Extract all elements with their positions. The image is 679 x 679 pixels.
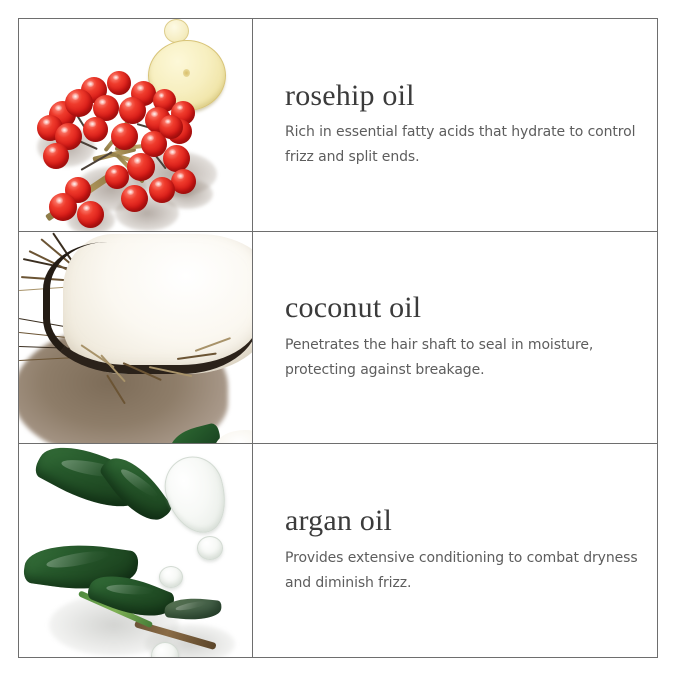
rosehip-berry bbox=[159, 115, 183, 139]
coconut-image-cell bbox=[19, 232, 253, 444]
rosehip-text-cell: rosehip oil Rich in essential fatty acid… bbox=[253, 19, 657, 231]
clear-oil-droplet-large bbox=[157, 450, 234, 541]
clear-oil-droplet-small bbox=[197, 536, 223, 560]
coconut-husk bbox=[43, 242, 253, 374]
rosehip-berry bbox=[43, 143, 69, 169]
ingredient-title-rosehip: rosehip oil bbox=[285, 80, 641, 112]
ingredient-row-coconut: coconut oil Penetrates the hair shaft to… bbox=[19, 232, 657, 445]
ingredient-title-argan: argan oil bbox=[285, 505, 641, 537]
argan-text-cell: argan oil Provides extensive conditionin… bbox=[253, 444, 657, 657]
rosehip-image-cell bbox=[19, 19, 253, 231]
ingredient-description-argan: Provides extensive conditioning to comba… bbox=[285, 546, 640, 596]
ingredient-grid: rosehip oil Rich in essential fatty acid… bbox=[18, 18, 658, 658]
rosehip-berry bbox=[111, 123, 138, 150]
ingredient-title-coconut: coconut oil bbox=[285, 292, 641, 324]
ingredient-description-rosehip: Rich in essential fatty acids that hydra… bbox=[285, 120, 640, 170]
rosehip-berry bbox=[121, 185, 148, 212]
ingredient-benefits-infographic: rosehip oil Rich in essential fatty acid… bbox=[0, 0, 679, 679]
rosehip-berry bbox=[65, 89, 93, 117]
rosehip-berry bbox=[119, 97, 146, 124]
ingredient-row-argan: argan oil Provides extensive conditionin… bbox=[19, 444, 657, 657]
rosehip-berry bbox=[163, 145, 190, 172]
rosehip-berry bbox=[149, 177, 175, 203]
ingredient-description-coconut: Penetrates the hair shaft to seal in moi… bbox=[285, 333, 640, 383]
coconut-text-cell: coconut oil Penetrates the hair shaft to… bbox=[253, 232, 657, 444]
rosehip-berry bbox=[77, 201, 104, 228]
coconut-white-blob bbox=[215, 430, 253, 444]
rosehip-berry bbox=[105, 165, 129, 189]
rosehip-berry bbox=[107, 71, 131, 95]
rosehip-berry bbox=[83, 117, 108, 142]
rosehip-berry bbox=[127, 153, 155, 181]
clear-oil-droplet-small bbox=[159, 566, 183, 588]
rosehip-berry bbox=[49, 193, 77, 221]
argan-image-cell bbox=[19, 444, 253, 657]
ingredient-row-rosehip: rosehip oil Rich in essential fatty acid… bbox=[19, 19, 657, 232]
